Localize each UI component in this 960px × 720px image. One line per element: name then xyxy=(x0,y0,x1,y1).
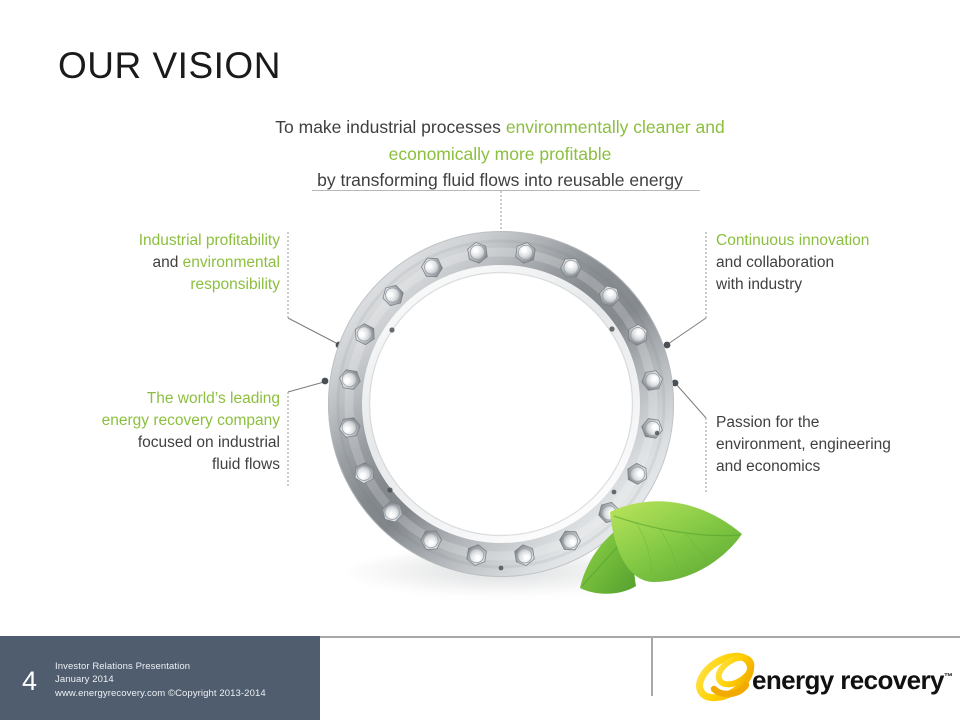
slide-canvas: OUR VISION To make industrial processes … xyxy=(0,0,960,720)
logo-trademark: ™ xyxy=(944,671,952,681)
footer-metadata: Investor Relations Presentation January … xyxy=(55,660,317,700)
vision-statement-underline xyxy=(312,190,700,191)
vision-statement: To make industrial processes environment… xyxy=(200,114,800,194)
callout-tr-line1: Continuous innovation xyxy=(716,232,869,249)
footer-horizontal-rule xyxy=(320,636,960,638)
green-leaf-icon xyxy=(574,482,764,607)
callout-tl-line3: responsibility xyxy=(190,276,280,293)
callout-tl-line2-plain: and xyxy=(152,254,182,271)
callout-bl-line2: energy recovery company xyxy=(102,412,280,429)
callout-tl-line2-green: environmental xyxy=(183,254,280,271)
callout-continuous-innovation: Continuous innovation and collaboration … xyxy=(716,230,946,296)
vision-statement-line1-plain: To make industrial processes xyxy=(275,117,506,137)
callout-industrial-profitability: Industrial profitability and environment… xyxy=(60,230,280,296)
callout-tr-line3: with industry xyxy=(716,276,802,293)
footer-line-date: January 2014 xyxy=(55,673,317,686)
callout-br-line1: Passion for the xyxy=(716,414,819,431)
callout-passion-environment: Passion for the environment, engineering… xyxy=(716,412,951,478)
footer-line-copyright: www.energyrecovery.com ©Copyright 2013-2… xyxy=(55,687,317,700)
logo-wordmark: energy recovery™ xyxy=(752,665,952,696)
vision-statement-line2-green: economically more profitable xyxy=(389,144,612,164)
vision-statement-line1-green: environmentally cleaner and xyxy=(506,117,725,137)
callout-tr-line2: and collaboration xyxy=(716,254,834,271)
callout-bl-line1: The world’s leading xyxy=(147,390,280,407)
footer-vertical-divider xyxy=(651,638,653,696)
callout-br-line3: and economics xyxy=(716,458,820,475)
callout-tl-line1: Industrial profitability xyxy=(139,232,280,249)
page-title: OUR VISION xyxy=(58,45,281,87)
callout-bl-line4: fluid flows xyxy=(212,456,280,473)
callout-br-line2: environment, engineering xyxy=(716,436,891,453)
callout-worlds-leading-company: The world’s leading energy recovery comp… xyxy=(40,388,280,476)
footer-line-presentation: Investor Relations Presentation xyxy=(55,660,317,673)
logo-wordmark-text: energy recovery xyxy=(752,665,944,695)
vision-statement-line3: by transforming fluid flows into reusabl… xyxy=(317,170,683,190)
slide-number: 4 xyxy=(22,668,37,695)
callout-bl-line3: focused on industrial xyxy=(138,434,280,451)
